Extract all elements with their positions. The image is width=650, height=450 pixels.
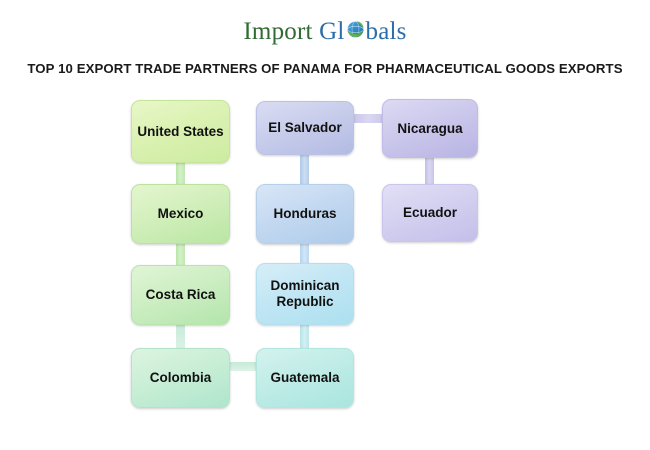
node-guatemala[interactable]: Guatemala bbox=[256, 348, 354, 408]
node-mexico[interactable]: Mexico bbox=[131, 184, 230, 244]
node-dominican-republic[interactable]: Dominican Republic bbox=[256, 263, 354, 325]
node-colombia[interactable]: Colombia bbox=[131, 348, 230, 408]
connector-el-salvador-honduras bbox=[300, 150, 309, 188]
node-el-salvador[interactable]: El Salvador bbox=[256, 101, 354, 155]
node-nicaragua[interactable]: Nicaragua bbox=[382, 99, 478, 158]
node-costa-rica[interactable]: Costa Rica bbox=[131, 265, 230, 325]
node-ecuador[interactable]: Ecuador bbox=[382, 184, 478, 242]
node-united-states[interactable]: United States bbox=[131, 100, 230, 163]
trade-partners-diagram: United States Mexico Costa Rica Colombia… bbox=[0, 0, 650, 450]
node-honduras[interactable]: Honduras bbox=[256, 184, 354, 244]
